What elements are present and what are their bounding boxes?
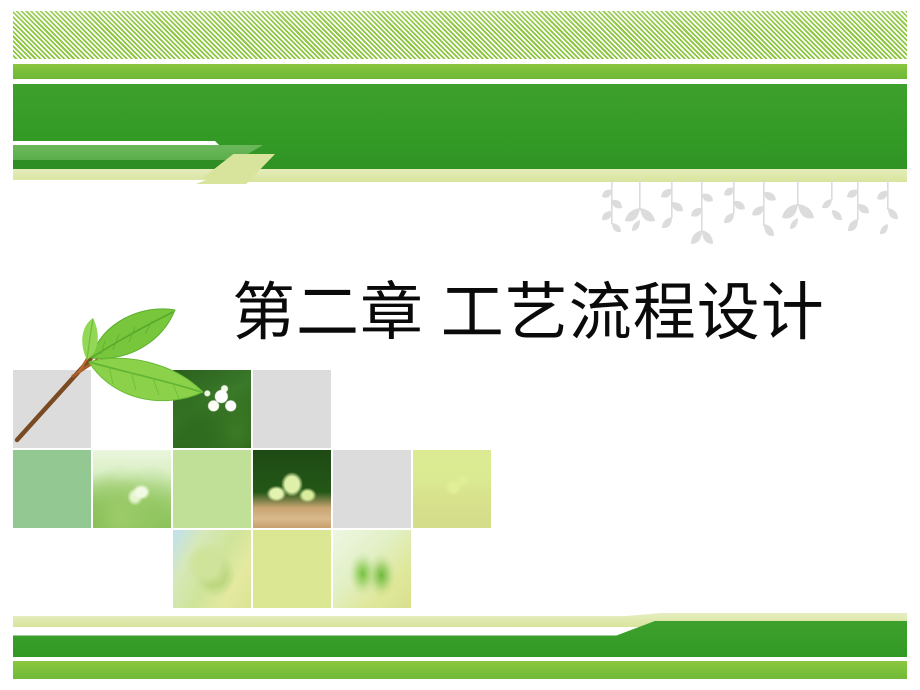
tile-single-sprout [413,450,491,528]
tile-three-seedlings-fill [253,450,331,528]
tile-pale-yellow-swatch [253,530,331,608]
tile-bud-closeup-fill [173,530,251,608]
tile-two-leaves-fill [333,530,411,608]
tile-bud-closeup [173,530,251,608]
tile-gray-2 [333,450,411,528]
tile-pale-yellow-swatch-fill [253,530,331,608]
tile-gray-2-fill [333,450,411,528]
tile-green-swatch-fill [13,450,91,528]
tile-gray-1 [253,370,331,448]
tile-light-green-swatch-fill [173,450,251,528]
leaf-sprig-overlay [13,300,213,450]
presentation-slide: 第二章 工艺流程设计 [0,0,920,690]
tile-moss-sprout [93,450,171,528]
tile-light-green-swatch [173,450,251,528]
tile-three-seedlings [253,450,331,528]
tile-gray-1-fill [253,370,331,448]
bright-green-bar-bottom [13,661,907,679]
tile-two-leaves [333,530,411,608]
tile-green-swatch [13,450,91,528]
tile-single-sprout-fill [413,450,491,528]
tile-moss-sprout-fill [93,450,171,528]
